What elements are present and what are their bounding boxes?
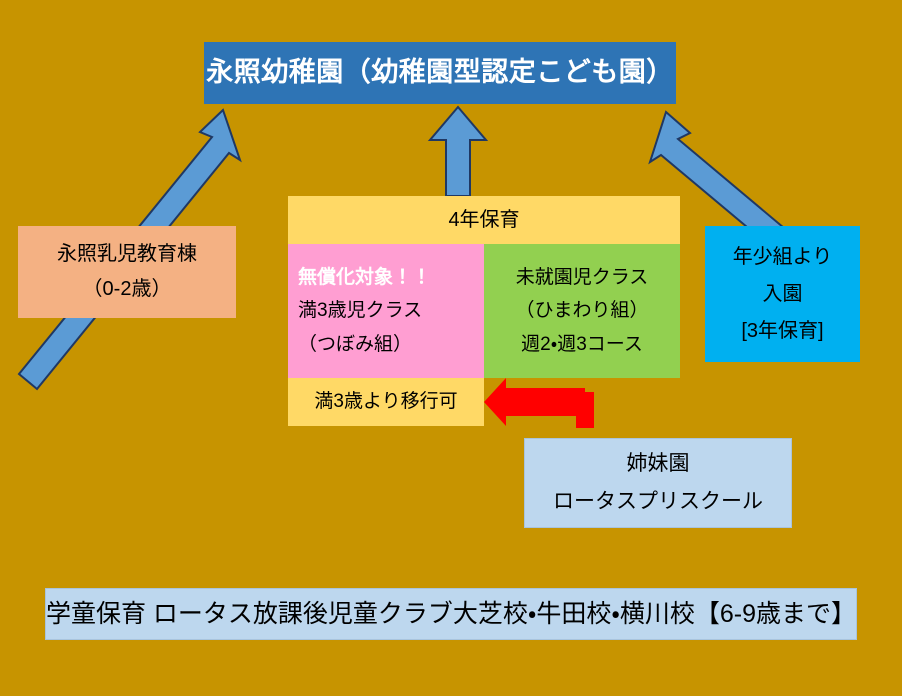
- infant-building-age: （0-2歳）: [83, 275, 172, 304]
- sister-school-name: ロータスプリスクール: [553, 487, 763, 517]
- entry-admission-label: 入園: [763, 280, 803, 309]
- infant-building-box: 永照乳児教育棟 （0-2歳）: [18, 226, 236, 318]
- sister-school-heading: 姉妹園: [627, 449, 690, 479]
- preschool-class-box: 未就園児クラス （ひまわり組） 週2・週3コース: [484, 244, 680, 378]
- free-tuition-emphasis: 無償化対象！！: [298, 264, 431, 292]
- sister-school-box: 姉妹園 ロータスプリスクール: [524, 438, 792, 528]
- preschool-class-course: 週2・週3コース: [521, 331, 643, 359]
- title-label: 永照幼稚園（幼稚園型認定こども園）: [206, 53, 674, 92]
- preschool-class-group: （ひまわり組）: [515, 297, 648, 325]
- transfer-note-label: 満3歳より移行可: [314, 388, 457, 416]
- entry-program-label: [3年保育]: [741, 317, 823, 346]
- age3-class-group: （つぼみ組）: [298, 331, 412, 359]
- preschool-class-name: 未就園児クラス: [516, 264, 649, 292]
- arrow-sister-to-transfer: [484, 378, 594, 428]
- four-year-program-label: 4年保育: [448, 206, 519, 235]
- infant-building-name: 永照乳児教育棟: [57, 240, 197, 269]
- afterschool-banner: 学童保育 ロータス放課後児童クラブ大芝校・牛田校・横川校【6-9歳まで】: [45, 588, 857, 640]
- entry-from-label: 年少組より: [733, 243, 833, 272]
- afterschool-banner-label: 学童保育 ロータス放課後児童クラブ大芝校・牛田校・横川校【6-9歳まで】: [46, 596, 856, 632]
- transfer-note-box: 満3歳より移行可: [288, 378, 484, 426]
- entry-from-nensho-box: 年少組より 入園 [3年保育]: [705, 226, 860, 362]
- page-title: 永照幼稚園（幼稚園型認定こども園）: [204, 42, 676, 104]
- age3-class-box: 無償化対象！！ 満3歳児クラス （つぼみ組）: [288, 244, 484, 378]
- diagram-canvas: 永照幼稚園（幼稚園型認定こども園） 永照乳児教育棟 （0-2歳） 4年保育 無償…: [0, 0, 902, 696]
- arrow-center-to-title: [430, 107, 486, 196]
- four-year-program-header: 4年保育: [288, 196, 680, 244]
- age3-class-name: 満3歳児クラス: [298, 297, 422, 325]
